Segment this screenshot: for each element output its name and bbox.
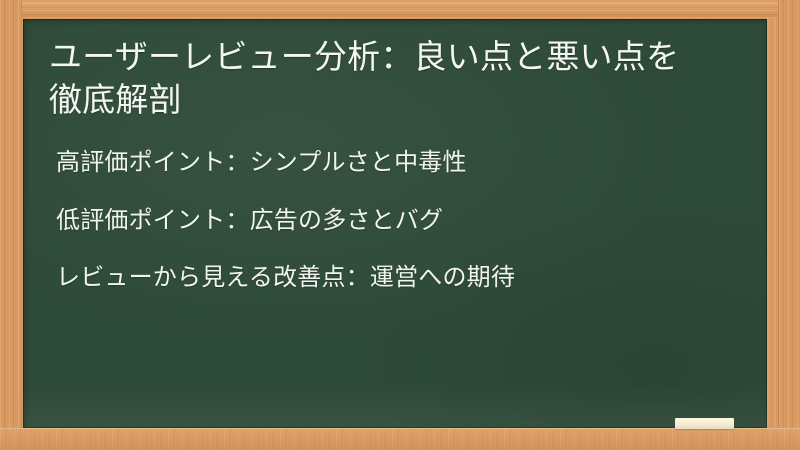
list-item: 低評価ポイント：広告の多さとバグ (56, 207, 741, 236)
bullet-list: 高評価ポイント：シンプルさと中毒性 低評価ポイント：広告の多さとバグ レビューか… (49, 149, 741, 293)
chalkboard-slide: ユーザーレビュー分析：良い点と悪い点を徹底解剖 高評価ポイント：シンプルさと中毒… (0, 0, 800, 450)
frame-bottom-ledge (0, 428, 800, 450)
chalkboard-content: ユーザーレビュー分析：良い点と悪い点を徹底解剖 高評価ポイント：シンプルさと中毒… (23, 19, 767, 428)
list-item: 高評価ポイント：シンプルさと中毒性 (56, 149, 741, 178)
frame-right-plank (778, 0, 800, 450)
chalkboard-surface: ユーザーレビュー分析：良い点と悪い点を徹底解剖 高評価ポイント：シンプルさと中毒… (23, 19, 767, 428)
chalk-stick-icon (675, 418, 734, 429)
frame-left-plank (0, 0, 22, 450)
page-title: ユーザーレビュー分析：良い点と悪い点を徹底解剖 (49, 36, 709, 122)
list-item: レビューから見える改善点：運営への期待 (56, 264, 741, 293)
frame-top-plank (0, 0, 800, 18)
